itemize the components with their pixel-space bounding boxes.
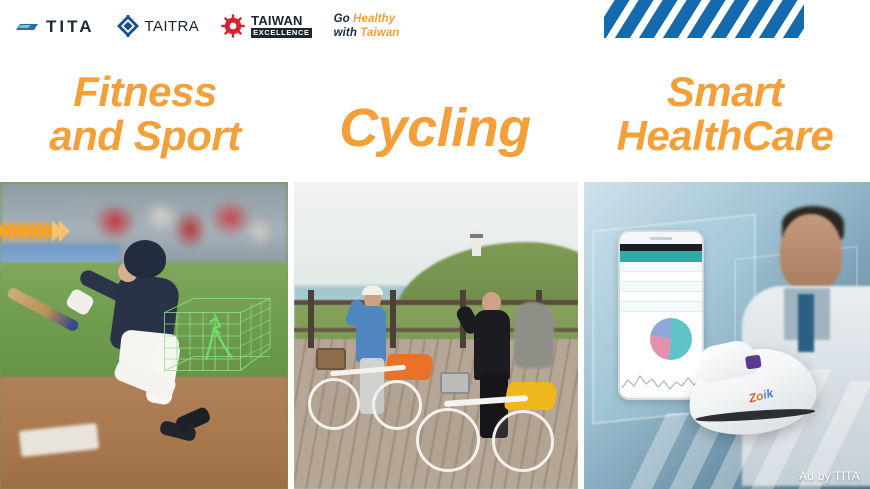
orange-bike-rear-wheel	[372, 380, 422, 430]
ghwt-go-label: Go	[334, 13, 350, 25]
device-brand-logo: Zoik	[747, 386, 774, 406]
batter-helmet	[124, 240, 166, 278]
logo-taiwan-excellence-sublabel: EXCELLENCE	[251, 28, 311, 38]
device-power-button[interactable]	[745, 355, 762, 370]
logo-go-healthy-with-taiwan[interactable]: Go Healthy with Taiwan	[334, 12, 400, 41]
thumbs-up-sculpture	[514, 302, 554, 368]
logo-bar: TITA TAITRA	[0, 0, 470, 52]
table-row	[620, 292, 702, 302]
ghwt-taiwan-label: Taiwan	[360, 27, 399, 39]
logo-taiwan-excellence-text: TAIWAN EXCELLENCE	[251, 14, 311, 38]
app-title-bar	[620, 251, 702, 262]
headline-3-line-1: Smart	[580, 70, 870, 114]
headline-cycling: Cycling	[290, 100, 580, 156]
motion-chevron-arrow-icon	[0, 218, 66, 244]
headline-3-line-2: HealthCare	[580, 114, 870, 158]
taiwan-excellence-gear-mark-icon	[221, 14, 245, 38]
logo-tita[interactable]: TITA	[14, 18, 95, 35]
logo-taitra-label: TAITRA	[145, 19, 200, 34]
photo-smart-healthcare[interactable]: Zoik	[584, 182, 870, 489]
tita-arrow-mark-icon	[14, 19, 40, 34]
ghwt-with-label: with	[334, 27, 357, 39]
ad-credit-label: Ad by TITA	[799, 469, 860, 483]
table-row	[620, 282, 702, 292]
pie-chart	[650, 318, 692, 360]
phone-speaker-grille	[650, 237, 672, 240]
logo-tita-label: TITA	[46, 18, 95, 35]
photo-cycling[interactable]	[294, 182, 578, 489]
table-row	[620, 302, 702, 312]
cyclist-2-jacket	[474, 310, 510, 380]
go-healthy-text-block: Go Healthy with Taiwan	[334, 12, 400, 41]
doctor-head	[780, 214, 842, 292]
yellow-bike-rear-wheel	[492, 410, 554, 472]
photo-fitness-and-sport[interactable]	[0, 182, 288, 489]
phone-earpiece	[620, 232, 702, 244]
ad-banner[interactable]: TITA TAITRA	[0, 0, 870, 489]
smartphone-health-app[interactable]	[618, 230, 704, 400]
headline-row: Fitness and Sport Cycling Smart HealthCa…	[0, 56, 870, 180]
doctor-tie	[798, 294, 814, 352]
yellow-bike-basket	[440, 372, 470, 394]
health-pie-chart-section	[620, 312, 702, 368]
lighthouse	[472, 230, 481, 256]
phone-status-bar	[620, 244, 702, 251]
cyclist-1-cap	[362, 286, 383, 295]
headline-1-line-2: and Sport	[0, 114, 290, 158]
logo-taitra[interactable]: TAITRA	[117, 15, 200, 37]
diagonal-blue-stripes-decoration	[604, 0, 804, 38]
motion-tracking-wireframe-icon	[164, 298, 276, 378]
app-primary-button[interactable]	[624, 399, 698, 400]
headline-1-line-1: Fitness	[0, 70, 290, 114]
headline-fitness-and-sport: Fitness and Sport	[0, 70, 290, 157]
photo-strip: Zoik	[0, 182, 870, 489]
taitra-diamond-mark-icon	[117, 15, 139, 37]
railing-post	[390, 290, 396, 348]
orange-bike-front-wheel	[308, 378, 360, 430]
logo-taiwan-excellence[interactable]: TAIWAN EXCELLENCE	[221, 14, 311, 38]
railing-post	[308, 290, 314, 348]
orange-bike-basket	[316, 348, 346, 370]
health-metrics-table	[620, 262, 702, 312]
headline-2-line-1: Cycling	[290, 100, 580, 156]
ghwt-healthy-label: Healthy	[353, 13, 395, 25]
table-row	[620, 272, 702, 282]
headline-smart-healthcare: Smart HealthCare	[580, 70, 870, 157]
table-row	[620, 262, 702, 272]
yellow-bike-front-wheel	[416, 408, 480, 472]
trend-line-chart	[620, 368, 702, 396]
logo-taiwan-excellence-label: TAIWAN	[251, 14, 311, 27]
